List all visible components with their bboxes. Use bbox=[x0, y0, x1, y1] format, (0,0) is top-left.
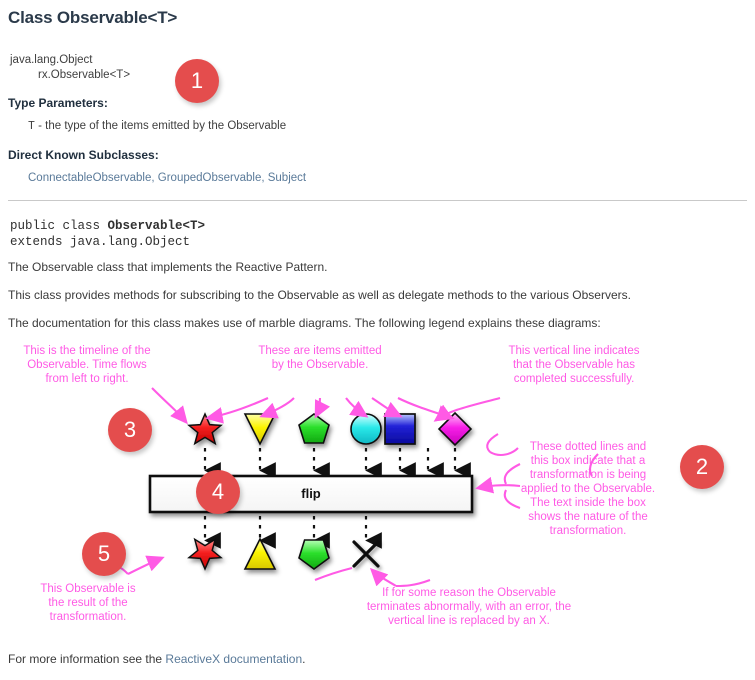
description-paragraph-3: The documentation for this class makes u… bbox=[8, 316, 601, 330]
declaration-extends: extends java.lang.Object bbox=[10, 235, 190, 249]
description-paragraph-2: This class provides methods for subscrib… bbox=[8, 288, 631, 302]
star-flipped-icon bbox=[189, 539, 221, 569]
transform-connectors-top bbox=[205, 448, 455, 470]
annotation-result: This Observable is the result of the tra… bbox=[16, 582, 160, 624]
annotation-completed: This vertical line indicates that the Ob… bbox=[486, 344, 662, 386]
annotation-timeline: This is the timeline of the Observable. … bbox=[6, 344, 168, 386]
type-parameter-name: T bbox=[28, 120, 35, 133]
type-parameters-heading: Type Parameters: bbox=[8, 96, 108, 110]
annotation-items-emitted: These are items emitted by the Observabl… bbox=[236, 344, 404, 372]
footer-prefix: For more information see the bbox=[8, 652, 165, 666]
declaration-class-name: Observable<T> bbox=[108, 219, 206, 233]
marble-diagram-legend: This is the timeline of the Observable. … bbox=[0, 336, 755, 646]
diamond-icon bbox=[439, 413, 471, 445]
inheritance-root: java.lang.Object bbox=[10, 54, 92, 66]
pentagon-flipped-icon bbox=[299, 540, 329, 569]
circle-icon bbox=[351, 414, 381, 444]
transform-connectors-bottom bbox=[205, 516, 366, 540]
square-icon bbox=[385, 414, 415, 444]
page-title: Class Observable<T> bbox=[8, 8, 177, 28]
callout-badge-2: 2 bbox=[680, 445, 724, 489]
javadoc-page: Class Observable<T> java.lang.Object rx.… bbox=[0, 0, 755, 680]
callout-badge-3: 3 bbox=[108, 408, 152, 452]
footer-suffix: . bbox=[302, 652, 305, 666]
footer-note: For more information see the ReactiveX d… bbox=[8, 652, 306, 666]
annotation-transformation: These dotted lines and this box indicate… bbox=[500, 440, 676, 538]
subclasses-heading: Direct Known Subclasses: bbox=[8, 148, 159, 162]
inheritance-child: rx.Observable<T> bbox=[10, 68, 130, 83]
callout-badge-4: 4 bbox=[196, 470, 240, 514]
class-declaration: public class Observable<T> extends java.… bbox=[10, 218, 205, 250]
callout-badge-5: 5 bbox=[82, 532, 126, 576]
callout-badge-1: 1 bbox=[175, 59, 219, 103]
subclasses-links[interactable]: ConnectableObservable, GroupedObservable… bbox=[28, 172, 306, 184]
type-parameter-description: - the type of the items emitted by the O… bbox=[38, 120, 286, 132]
result-marbles bbox=[189, 539, 329, 569]
divider-top bbox=[8, 200, 747, 201]
annotation-error: If for some reason the Observable termin… bbox=[324, 586, 614, 628]
inheritance-tree: java.lang.Object rx.Observable<T> bbox=[10, 53, 130, 83]
reactivex-documentation-link[interactable]: ReactiveX documentation bbox=[165, 652, 302, 666]
description-paragraph-1: The Observable class that implements the… bbox=[8, 260, 327, 274]
star-icon bbox=[189, 414, 221, 444]
pentagon-icon bbox=[299, 414, 329, 443]
type-parameter-row: T - the type of the items emitted by the… bbox=[28, 120, 286, 133]
declaration-modifiers: public class bbox=[10, 219, 108, 233]
